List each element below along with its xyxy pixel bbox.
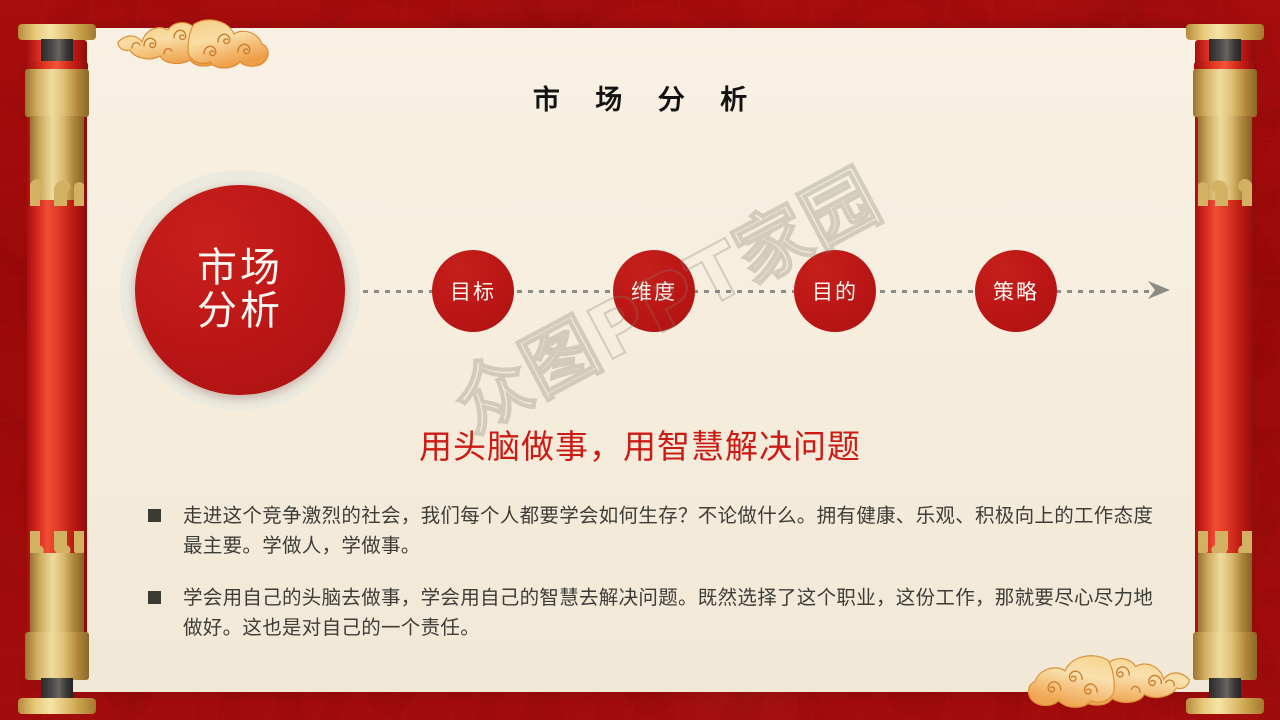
bullet-list: 走进这个竞争激烈的社会，我们每个人都要学会如何生存？不论做什么。拥有健康、乐观、… bbox=[148, 502, 1160, 667]
bullet-text: 走进这个竞争激烈的社会，我们每个人都要学会如何生存？不论做什么。拥有健康、乐观、… bbox=[183, 502, 1160, 561]
cap-barrel-icon bbox=[1193, 632, 1257, 680]
node-circle-strategy[interactable]: 策略 bbox=[975, 250, 1057, 332]
node-circle-target[interactable]: 目标 bbox=[432, 250, 514, 332]
hub-label-line1: 市场 bbox=[197, 247, 283, 290]
hub-circle-market-analysis[interactable]: 市场 分析 bbox=[135, 185, 345, 395]
cap-cone-icon bbox=[1198, 553, 1252, 637]
node-label: 维度 bbox=[631, 276, 677, 306]
hub-label-line2: 分析 bbox=[197, 290, 283, 333]
node-label: 目标 bbox=[450, 276, 496, 306]
list-item: 走进这个竞争激烈的社会，我们每个人都要学会如何生存？不论做什么。拥有健康、乐观、… bbox=[148, 502, 1160, 561]
node-label: 策略 bbox=[993, 276, 1039, 306]
bullet-square-icon bbox=[148, 591, 161, 604]
cap-plate-icon bbox=[18, 24, 96, 40]
cap-neck-icon bbox=[1209, 39, 1241, 62]
cap-plate-icon bbox=[18, 698, 96, 714]
cap-barrel-icon bbox=[25, 632, 89, 680]
page-title: 市 场 分 析 bbox=[0, 78, 1280, 117]
section-headline: 用头脑做事，用智慧解决问题 bbox=[0, 420, 1280, 468]
cap-cone-icon bbox=[30, 553, 84, 637]
node-circle-dimension[interactable]: 维度 bbox=[613, 250, 695, 332]
cap-neck-icon bbox=[41, 39, 73, 62]
node-circle-purpose[interactable]: 目的 bbox=[794, 250, 876, 332]
cap-plate-icon bbox=[1186, 24, 1264, 40]
auspicious-cloud-icon-top-left bbox=[112, 0, 272, 78]
bullet-square-icon bbox=[148, 509, 161, 522]
list-item: 学会用自己的头脑去做事，学会用自己的智慧去解决问题。既然选择了这个职业，这份工作… bbox=[148, 584, 1160, 643]
bullet-text: 学会用自己的头脑去做事，学会用自己的智慧去解决问题。既然选择了这个职业，这份工作… bbox=[183, 584, 1160, 643]
node-label: 目的 bbox=[812, 276, 858, 306]
process-diagram: 市场 分析 目标 维度 目的 策略 bbox=[0, 175, 1280, 410]
slide-canvas: 市 场 分 析 市场 分析 目标 维度 目的 策略 众图PPT家园 用头脑做事，… bbox=[0, 0, 1280, 720]
arrow-right-icon bbox=[1146, 279, 1176, 306]
